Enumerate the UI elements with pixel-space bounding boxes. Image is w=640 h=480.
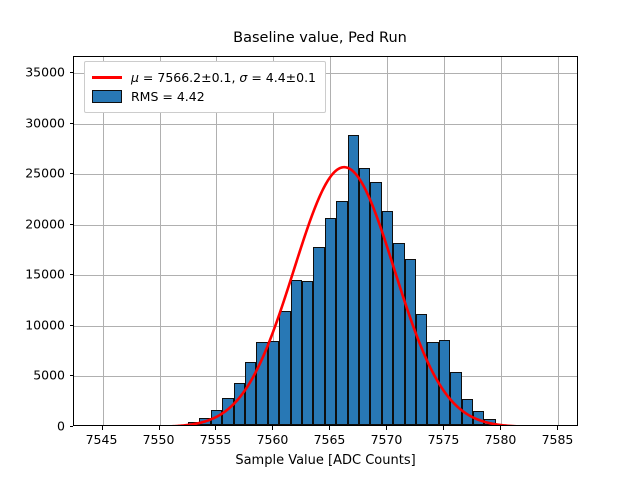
x-tick-mark — [329, 426, 330, 430]
x-tick-mark — [102, 426, 103, 430]
histogram-bar — [382, 211, 393, 425]
y-tick-mark — [70, 173, 74, 174]
histogram-bar — [484, 419, 495, 425]
histogram-bar — [370, 182, 381, 425]
legend-item-fit: μ = 7566.2±0.1, σ = 4.4±0.1 — [92, 68, 316, 87]
histogram-bar — [234, 383, 245, 425]
histogram-bar — [302, 281, 313, 425]
x-axis-label: Sample Value [ADC Counts] — [73, 453, 578, 468]
histogram-bar — [473, 411, 484, 425]
y-tick-mark — [70, 123, 74, 124]
y-tick-label: 25000 — [5, 166, 65, 181]
y-tick-label: 35000 — [5, 65, 65, 80]
legend-line-key-icon — [92, 71, 122, 84]
histogram-bar — [256, 342, 267, 425]
x-tick-mark — [443, 426, 444, 430]
histogram-bar — [336, 201, 347, 425]
y-axis-label-wrap: Events — [18, 56, 32, 426]
page-title: Baseline value, Ped Run — [0, 30, 640, 46]
x-tick-label: 7560 — [257, 432, 289, 447]
legend-patch-key-icon — [92, 90, 122, 103]
y-tick-label: 5000 — [5, 368, 65, 383]
histogram-bar — [439, 340, 450, 425]
histogram-bar — [268, 341, 279, 425]
histogram-bar — [393, 243, 404, 425]
y-tick-mark — [70, 325, 74, 326]
x-tick-mark — [557, 426, 558, 430]
histogram-bar — [199, 418, 210, 425]
y-tick-label: 30000 — [5, 115, 65, 130]
legend-item-label: RMS = 4.42 — [131, 89, 205, 104]
histogram-bar — [450, 372, 461, 425]
histogram-bar — [405, 259, 416, 425]
histogram-bar — [291, 280, 302, 425]
legend-item-label: μ = 7566.2±0.1, σ = 4.4±0.1 — [131, 70, 316, 85]
y-tick-label: 0 — [5, 419, 65, 434]
x-tick-label: 7585 — [542, 432, 574, 447]
x-tick-label: 7565 — [314, 432, 346, 447]
y-tick-label: 20000 — [5, 216, 65, 231]
x-tick-label: 7570 — [371, 432, 403, 447]
histogram-bar — [188, 422, 199, 425]
histogram-bar — [279, 311, 290, 425]
x-tick-mark — [215, 426, 216, 430]
x-tick-label: 7550 — [143, 432, 175, 447]
histogram-bar — [416, 314, 427, 425]
y-tick-mark — [70, 72, 74, 73]
x-tick-mark — [159, 426, 160, 430]
x-tick-mark — [272, 426, 273, 430]
legend-item-histogram: RMS = 4.42 — [92, 87, 316, 106]
histogram-bar — [462, 399, 473, 425]
legend: μ = 7566.2±0.1, σ = 4.4±0.1 RMS = 4.42 — [84, 61, 326, 113]
histogram-bar — [359, 168, 370, 425]
y-tick-mark — [70, 224, 74, 225]
x-tick-label: 7545 — [86, 432, 118, 447]
histogram-bar — [348, 135, 359, 425]
y-tick-label: 10000 — [5, 317, 65, 332]
histogram-bar — [325, 218, 336, 425]
x-tick-label: 7580 — [485, 432, 517, 447]
x-tick-label: 7555 — [200, 432, 232, 447]
y-tick-mark — [70, 375, 74, 376]
x-tick-mark — [500, 426, 501, 430]
histogram-bar — [313, 247, 324, 425]
y-tick-label: 15000 — [5, 267, 65, 282]
figure-canvas: Baseline value, Ped Run 7545755075557560… — [0, 0, 640, 480]
y-tick-mark — [70, 274, 74, 275]
x-tick-mark — [386, 426, 387, 430]
x-tick-label: 7575 — [428, 432, 460, 447]
histogram-bar — [245, 362, 256, 425]
histogram-bar — [427, 342, 438, 425]
y-tick-mark — [70, 426, 74, 427]
histogram-bar — [222, 398, 233, 425]
histogram-bar — [211, 410, 222, 425]
